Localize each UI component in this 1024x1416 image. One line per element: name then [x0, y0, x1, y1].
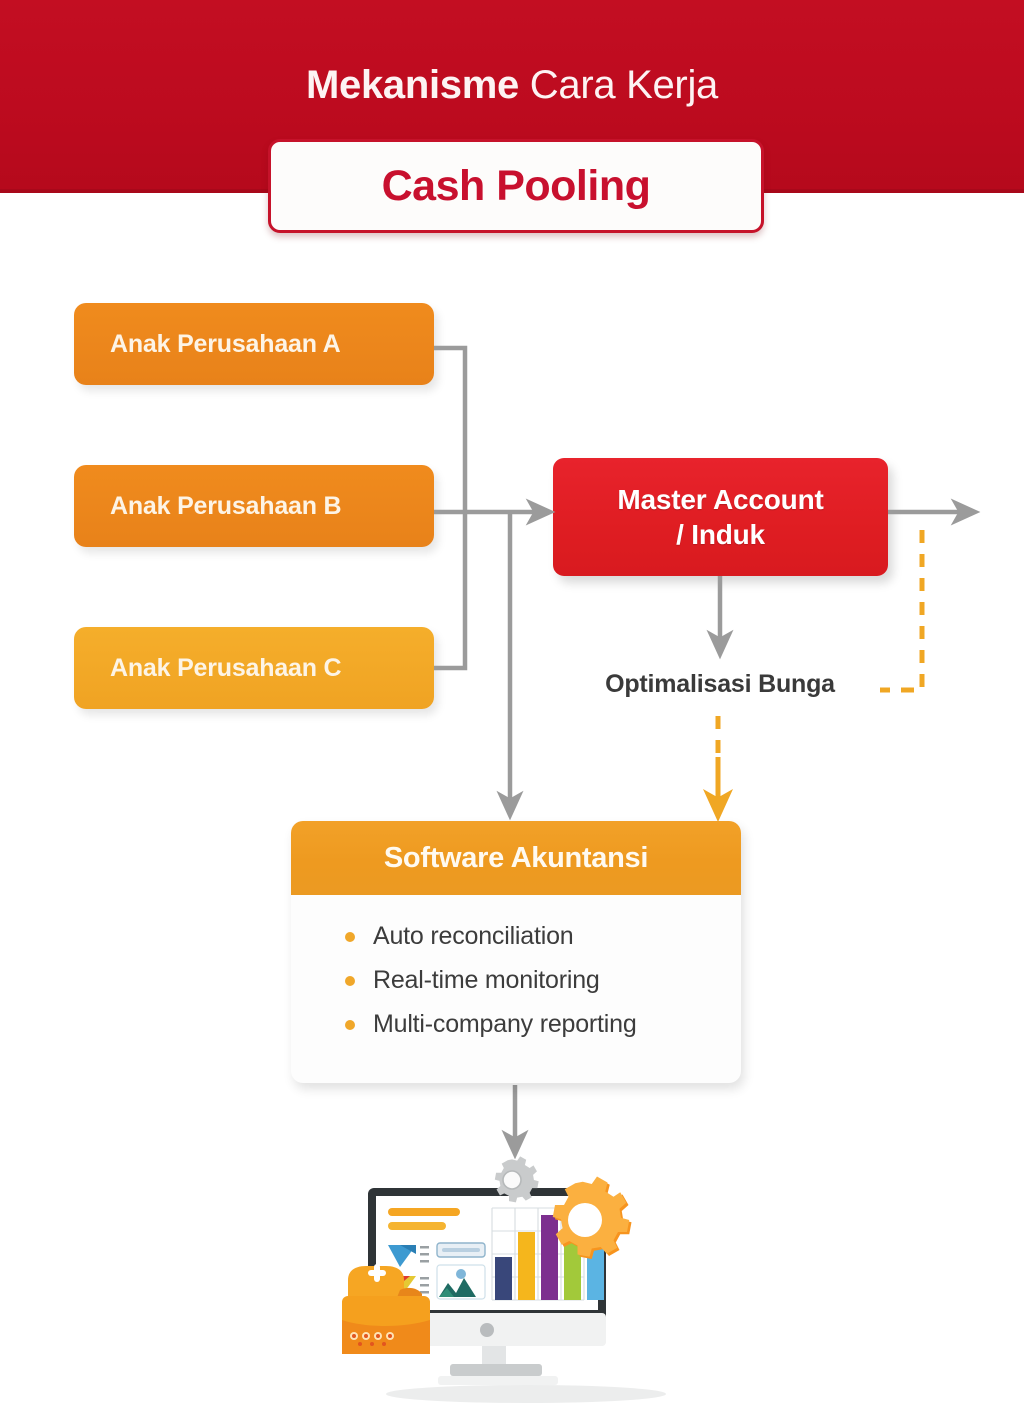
page-title: Mekanisme Cara Kerja — [0, 60, 1024, 110]
infographic-root: Mekanisme Cara Kerja Cash Pooling Anak P… — [0, 0, 1024, 1416]
node-subsidiary-a[interactable]: Anak Perusahaan A — [74, 303, 434, 385]
accounting-dashboard-illustration — [330, 1150, 710, 1416]
node-software-header: Software Akuntansi — [291, 821, 741, 895]
monitor-base — [450, 1364, 542, 1376]
dashboard-bar-1 — [495, 1257, 512, 1300]
dashboard-legend-line — [420, 1284, 429, 1287]
node-master-account-line2: / Induk — [676, 517, 765, 552]
node-subsidiary-b-label: Anak Perusahaan B — [74, 492, 341, 521]
dashboard-bar-2 — [518, 1232, 535, 1300]
node-subsidiary-c-label: Anak Perusahaan C — [74, 654, 341, 683]
node-subsidiary-c[interactable]: Anak Perusahaan C — [74, 627, 434, 709]
bullet-icon — [345, 1020, 355, 1030]
node-subsidiary-a-label: Anak Perusahaan A — [74, 330, 341, 359]
node-master-account-line1: Master Account — [617, 482, 823, 517]
node-interest-optimization-label: Optimalisasi Bunga — [560, 670, 880, 699]
list-item: Auto reconciliation — [345, 921, 741, 951]
dashboard-legend-line — [420, 1260, 429, 1263]
dashboard-area-sun — [456, 1269, 466, 1279]
dashboard-bar-3 — [541, 1215, 558, 1300]
dashboard-legend-line — [420, 1277, 429, 1280]
dashboard-legend-line — [420, 1246, 429, 1249]
software-feature-3: Multi-company reporting — [373, 1009, 637, 1039]
node-subsidiary-b[interactable]: Anak Perusahaan B — [74, 465, 434, 547]
node-software-title: Software Akuntansi — [384, 842, 648, 875]
software-feature-1: Auto reconciliation — [373, 921, 574, 951]
list-item: Real-time monitoring — [345, 965, 741, 995]
edge-subsidiary-c-to-trunk — [434, 512, 465, 668]
subtitle-card-text: Cash Pooling — [382, 162, 651, 211]
monitor-power-led — [480, 1323, 494, 1337]
dashboard-legend-line — [420, 1253, 429, 1256]
page-title-light: Cara Kerja — [530, 63, 718, 107]
bullet-icon — [345, 976, 355, 986]
dashboard-subtitle-bar — [388, 1222, 446, 1230]
dashboard-title-bar — [388, 1208, 460, 1216]
page-title-bold: Mekanisme — [306, 63, 519, 107]
illustration-shadow — [386, 1385, 666, 1403]
list-item: Multi-company reporting — [345, 1009, 741, 1039]
toolbox-plus-v — [374, 1264, 380, 1282]
node-software-features: Auto reconciliation Real-time monitoring… — [291, 895, 741, 1039]
monitor-base-bottom — [438, 1376, 558, 1385]
node-master-account[interactable]: Master Account / Induk — [553, 458, 888, 576]
subtitle-card: Cash Pooling — [268, 139, 764, 233]
node-software-card[interactable]: Software Akuntansi Auto reconciliation R… — [291, 821, 741, 1083]
software-feature-2: Real-time monitoring — [373, 965, 600, 995]
bullet-icon — [345, 932, 355, 942]
edge-subsidiary-a-to-trunk — [434, 348, 465, 512]
dashboard-search-line — [442, 1248, 480, 1252]
